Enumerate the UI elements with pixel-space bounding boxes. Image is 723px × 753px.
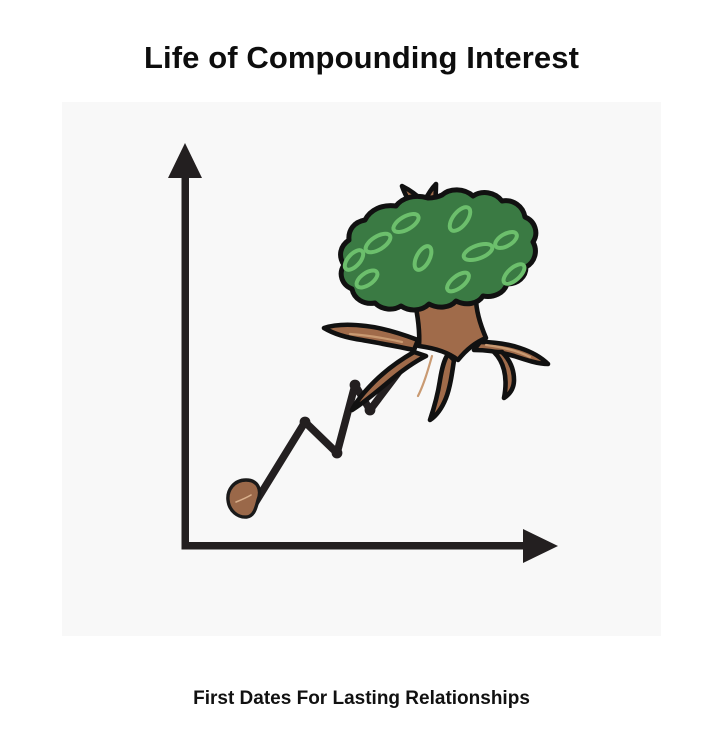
x-axis-line xyxy=(182,542,545,550)
page-title: Life of Compounding Interest xyxy=(0,38,723,78)
chart-panel xyxy=(62,102,661,636)
growth-line-marker xyxy=(365,405,376,416)
x-axis-arrowhead xyxy=(523,529,558,563)
figure-root: Life of Compounding Interest xyxy=(0,0,723,753)
root-grain xyxy=(418,356,432,396)
seed-icon xyxy=(228,480,260,517)
tree-roots xyxy=(324,298,548,420)
root-left xyxy=(324,325,418,350)
growth-line-marker xyxy=(332,448,343,459)
root-center-drop xyxy=(430,354,454,420)
y-axis-arrowhead xyxy=(168,143,202,178)
growth-line-marker xyxy=(300,417,311,428)
y-axis-line xyxy=(182,157,190,549)
growth-line-marker xyxy=(350,380,361,391)
chart-caption: First Dates For Lasting Relationships xyxy=(0,686,723,712)
root-left-lower xyxy=(352,352,426,410)
canopy-body xyxy=(341,190,536,310)
tree-canopy xyxy=(341,190,536,310)
root-right-drop xyxy=(494,352,514,398)
chart-canvas xyxy=(62,102,661,636)
